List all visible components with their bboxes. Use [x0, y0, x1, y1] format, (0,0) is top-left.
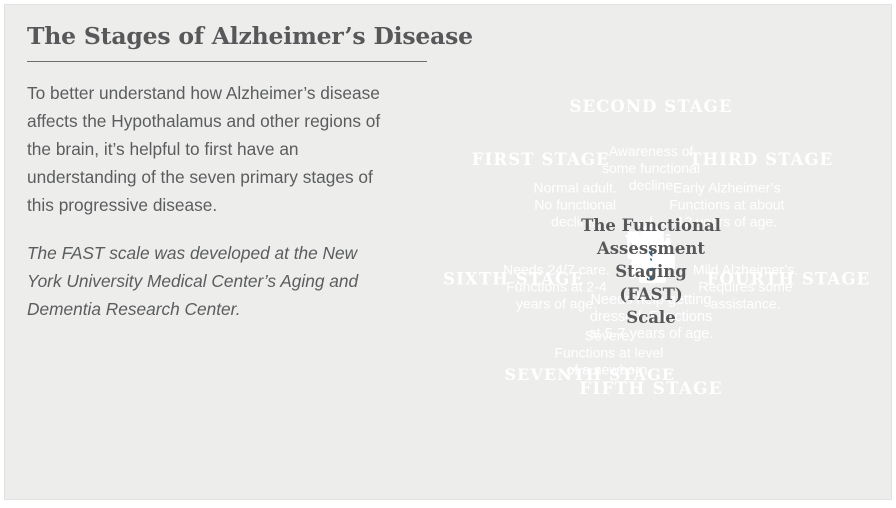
stage-label-second: SECOND STAGE: [569, 97, 732, 116]
svg-text:Functions at level: Functions at level: [554, 344, 663, 360]
svg-text:Mild Alzheimer’s.: Mild Alzheimer’s.: [693, 262, 798, 278]
svg-text:Severe.: Severe.: [585, 327, 633, 343]
svg-text:decline: decline: [629, 177, 674, 193]
svg-text:No functional: No functional: [534, 197, 616, 213]
svg-text:Awareness of: Awareness of: [609, 143, 694, 159]
svg-text:some functional: some functional: [602, 160, 700, 176]
stage-label-first: FIRST STAGE: [472, 150, 610, 169]
svg-text:Needs 24/7 care.: Needs 24/7 care.: [503, 262, 610, 278]
svg-text:Early Alzheimer’s: Early Alzheimer’s: [673, 180, 781, 196]
fast-scale-wheel: FIRST STAGE Normal adult. No functional …: [411, 13, 891, 493]
title-divider: [27, 61, 427, 62]
svg-text:Assessment: Assessment: [596, 239, 705, 258]
svg-text:Normal adult.: Normal adult.: [534, 180, 617, 196]
stage-label-third: THIRD STAGE: [689, 150, 833, 169]
svg-text:Requires some: Requires some: [698, 279, 792, 295]
svg-text:of a newborn.: of a newborn.: [566, 361, 651, 377]
intro-paragraph-1: To better understand how Alzheimer’s dis…: [27, 79, 387, 219]
stage-desc-sixth: Needs 24/7 care. Functions at 2-4 years …: [503, 262, 610, 312]
page-title: The Stages of Alzheimer’s Disease: [27, 23, 419, 50]
svg-text:Functions at about: Functions at about: [669, 197, 784, 213]
svg-text:years of age.: years of age.: [516, 296, 597, 312]
left-text-column: The Stages of Alzheimer’s Disease To bet…: [27, 23, 419, 343]
svg-text:Functions at 2-4: Functions at 2-4: [506, 279, 607, 295]
svg-text:The Functional: The Functional: [581, 216, 721, 235]
infographic-canvas: The Stages of Alzheimer’s Disease To bet…: [4, 4, 892, 500]
intro-paragraph-2: The FAST scale was developed at the New …: [27, 239, 387, 323]
svg-text:(FAST): (FAST): [619, 285, 682, 304]
svg-text:Scale: Scale: [626, 308, 675, 327]
svg-text:Staging: Staging: [615, 262, 687, 281]
svg-text:assistance.: assistance.: [711, 296, 781, 312]
